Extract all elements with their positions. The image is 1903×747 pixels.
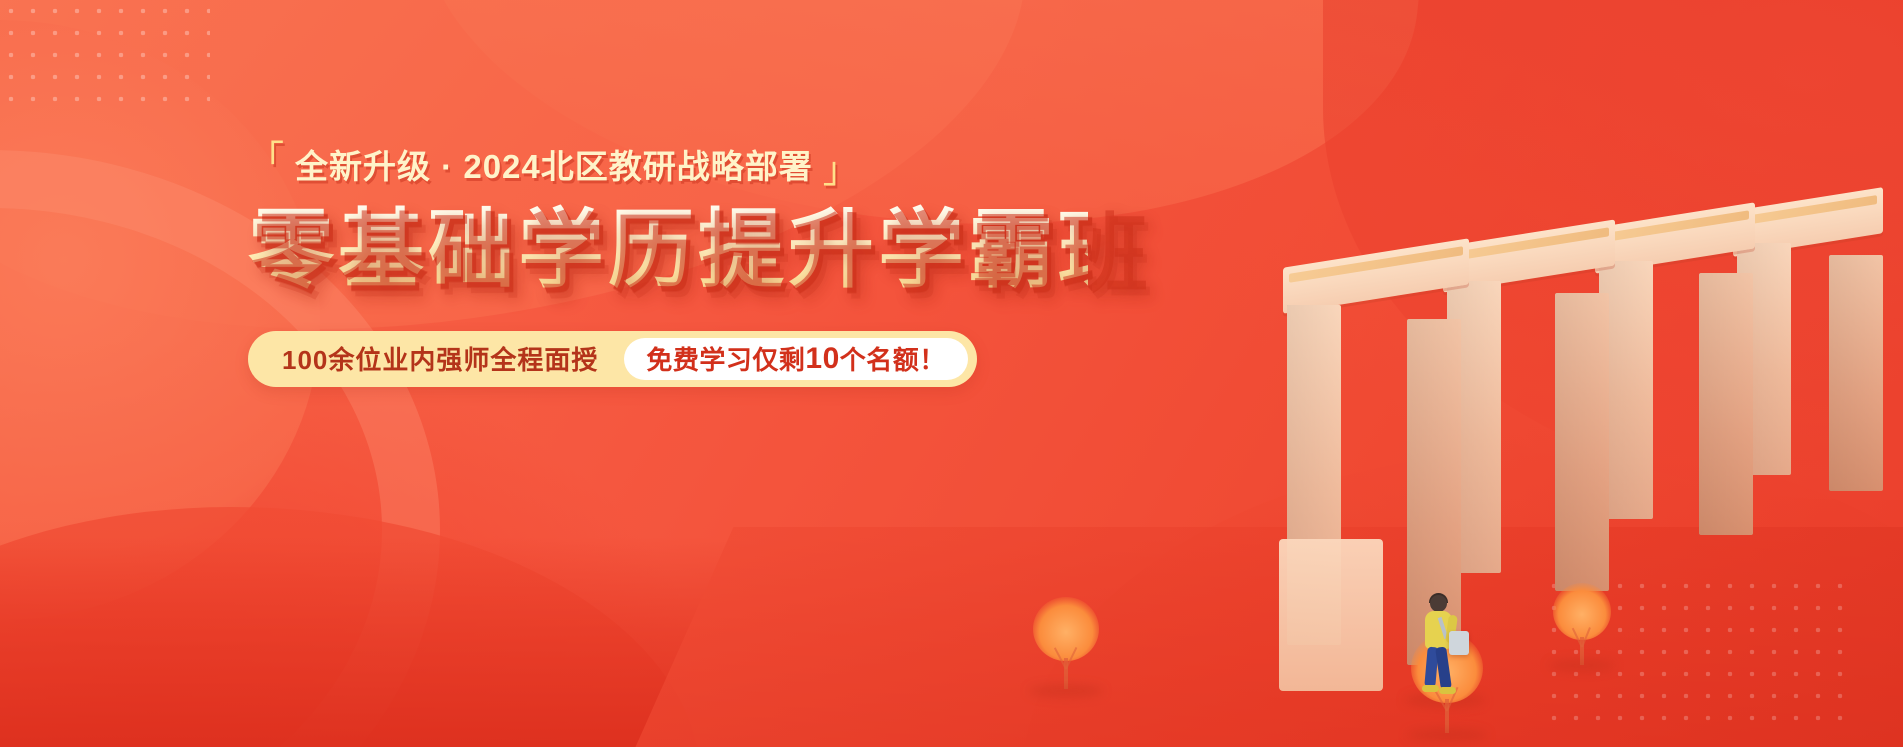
badge-text-after: 个名额！ xyxy=(840,340,946,377)
tree-crown xyxy=(1033,597,1099,661)
open-bracket-glyph: 「 xyxy=(248,141,285,177)
tree-trunk xyxy=(1445,699,1449,733)
promo-banner: 「 全新升级 · 2024北区教研战略部署 」 零基础学历提升学霸班 100余位… xyxy=(0,0,1903,747)
tree-center-shadow xyxy=(1407,729,1487,741)
student-figure xyxy=(1417,595,1473,695)
tree-crown xyxy=(1553,583,1611,640)
promo-pill-text: 100余位业内强师全程面授 xyxy=(282,340,624,377)
tree-left-shadow xyxy=(1029,685,1103,697)
eyebrow-line: 「 全新升级 · 2024北区教研战略部署 」 xyxy=(248,140,1088,188)
illustration-scene xyxy=(1023,187,1903,747)
headline-title: 零基础学历提升学霸班 xyxy=(248,204,1088,297)
figure-shoe-left xyxy=(1422,685,1439,692)
badge-text-before: 免费学习仅剩 xyxy=(646,340,805,377)
book-arch-4 xyxy=(1733,199,1883,489)
figure-bag xyxy=(1449,631,1469,655)
tree-right-shadow xyxy=(1549,660,1615,671)
seats-remaining-badge[interactable]: 免费学习仅剩 10 个名额！ xyxy=(624,338,967,380)
book-arch-3 xyxy=(1595,215,1755,535)
tree-right xyxy=(1553,583,1611,665)
close-bracket-glyph: 」 xyxy=(823,152,860,188)
promo-pill[interactable]: 100余位业内强师全程面授 免费学习仅剩 10 个名额！ xyxy=(248,331,977,387)
tree-left xyxy=(1033,597,1099,689)
figure-shoe-right xyxy=(1439,687,1456,694)
banner-text-block: 「 全新升级 · 2024北区教研战略部署 」 零基础学历提升学霸班 100余位… xyxy=(248,140,1088,387)
figure-head xyxy=(1430,595,1447,612)
eyebrow-text: 全新升级 · 2024北区教研战略部署 xyxy=(295,140,813,188)
dot-grid-top-left xyxy=(0,0,210,115)
badge-seat-count: 10 xyxy=(805,342,839,376)
doorway-panel xyxy=(1279,539,1383,691)
